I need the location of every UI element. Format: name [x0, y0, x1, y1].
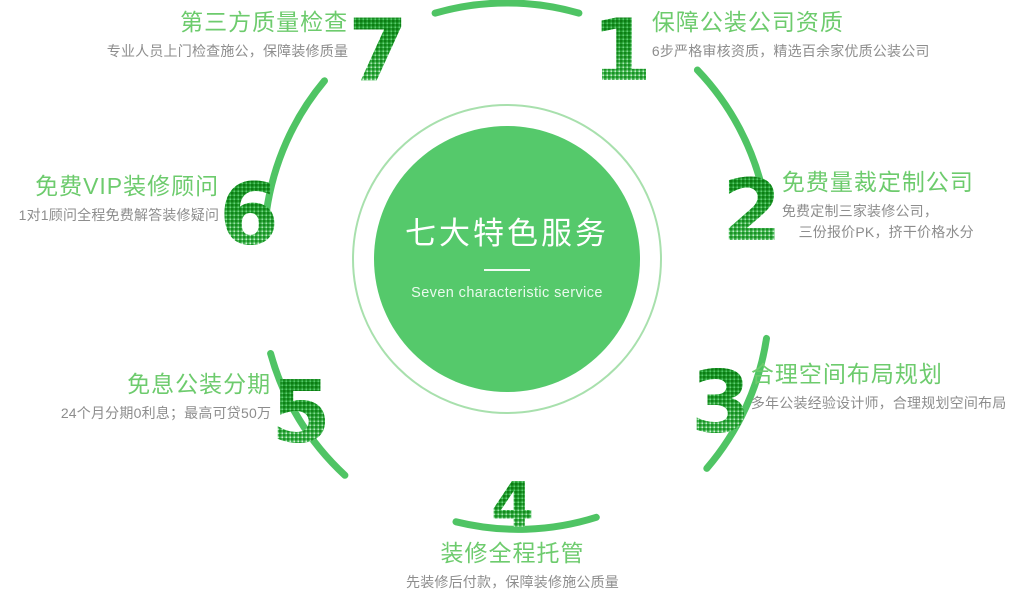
service-title-3: 合理空间布局规划: [751, 362, 1007, 388]
service-text-2: 免费量裁定制公司 免费定制三家装修公司， 三份报价PK，挤干价格水分: [782, 168, 974, 243]
hub-disc: 七大特色服务 Seven characteristic service: [374, 126, 640, 392]
service-subtitle-3: 多年公装经验设计师，合理规划空间布局: [751, 393, 1007, 414]
service-item-2[interactable]: 2 免费量裁定制公司 免费定制三家装修公司， 三份报价PK，挤干价格水分: [712, 168, 974, 254]
service-item-3[interactable]: 3 合理空间布局规划 多年公装经验设计师，合理规划空间布局: [681, 360, 1006, 446]
service-title-1: 保障公装公司资质: [652, 10, 930, 36]
service-item-7[interactable]: 7 第三方质量检查 专业人员上门检查施公，保障装修质量: [107, 8, 418, 94]
service-subtitle-5: 24个月分期0利息；最高可贷50万: [61, 403, 271, 424]
service-subtitle-1: 6步严格审核资质，精选百余家优质公装公司: [652, 41, 930, 62]
service-subtitle-2: 免费定制三家装修公司， 三份报价PK，挤干价格水分: [782, 201, 974, 243]
service-item-1[interactable]: 1 保障公装公司资质 6步严格审核资质，精选百余家优质公装公司: [582, 8, 930, 94]
hub-subtitle: Seven characteristic service: [411, 285, 603, 301]
service-title-7: 第三方质量检查: [107, 10, 348, 36]
service-item-6[interactable]: 6 免费VIP装修顾问 1对1顾问全程免费解答装修疑问: [19, 172, 289, 258]
service-subtitle-7: 专业人员上门检查施公，保障装修质量: [107, 41, 348, 62]
service-text-5: 免息公装分期 24个月分期0利息；最高可贷50万: [61, 370, 271, 424]
service-title-4: 装修全程托管: [406, 541, 619, 567]
service-item-5[interactable]: 5 免息公装分期 24个月分期0利息；最高可贷50万: [61, 370, 341, 456]
service-text-7: 第三方质量检查 专业人员上门检查施公，保障装修质量: [107, 8, 348, 62]
service-title-6: 免费VIP装修顾问: [19, 174, 220, 200]
service-number-1: 1: [592, 8, 652, 94]
service-number-2: 2: [722, 168, 782, 254]
ring-arc-1: [435, 3, 579, 13]
service-text-1: 保障公装公司资质 6步严格审核资质，精选百余家优质公装公司: [652, 8, 930, 62]
infographic-canvas: 七大特色服务 Seven characteristic service 1 保障…: [0, 0, 1034, 615]
service-text-6: 免费VIP装修顾问 1对1顾问全程免费解答装修疑问: [19, 172, 220, 226]
hub-title: 七大特色服务: [405, 217, 609, 251]
service-title-2: 免费量裁定制公司: [782, 170, 974, 196]
service-number-4: 4: [491, 475, 534, 537]
service-number-6: 6: [219, 172, 279, 258]
service-subtitle-6: 1对1顾问全程免费解答装修疑问: [19, 205, 220, 226]
service-number-3: 3: [691, 360, 751, 446]
service-item-4[interactable]: 4 装修全程托管 先装修后付款，保障装修施公质量: [406, 475, 619, 593]
service-text-3: 合理空间布局规划 多年公装经验设计师，合理规划空间布局: [751, 360, 1007, 414]
service-number-7: 7: [348, 8, 408, 94]
service-title-5: 免息公装分期: [61, 372, 271, 398]
service-subtitle-4: 先装修后付款，保障装修施公质量: [406, 572, 619, 593]
service-text-4: 装修全程托管 先装修后付款，保障装修施公质量: [406, 539, 619, 593]
service-number-5: 5: [271, 370, 331, 456]
hub-divider: [484, 269, 530, 271]
